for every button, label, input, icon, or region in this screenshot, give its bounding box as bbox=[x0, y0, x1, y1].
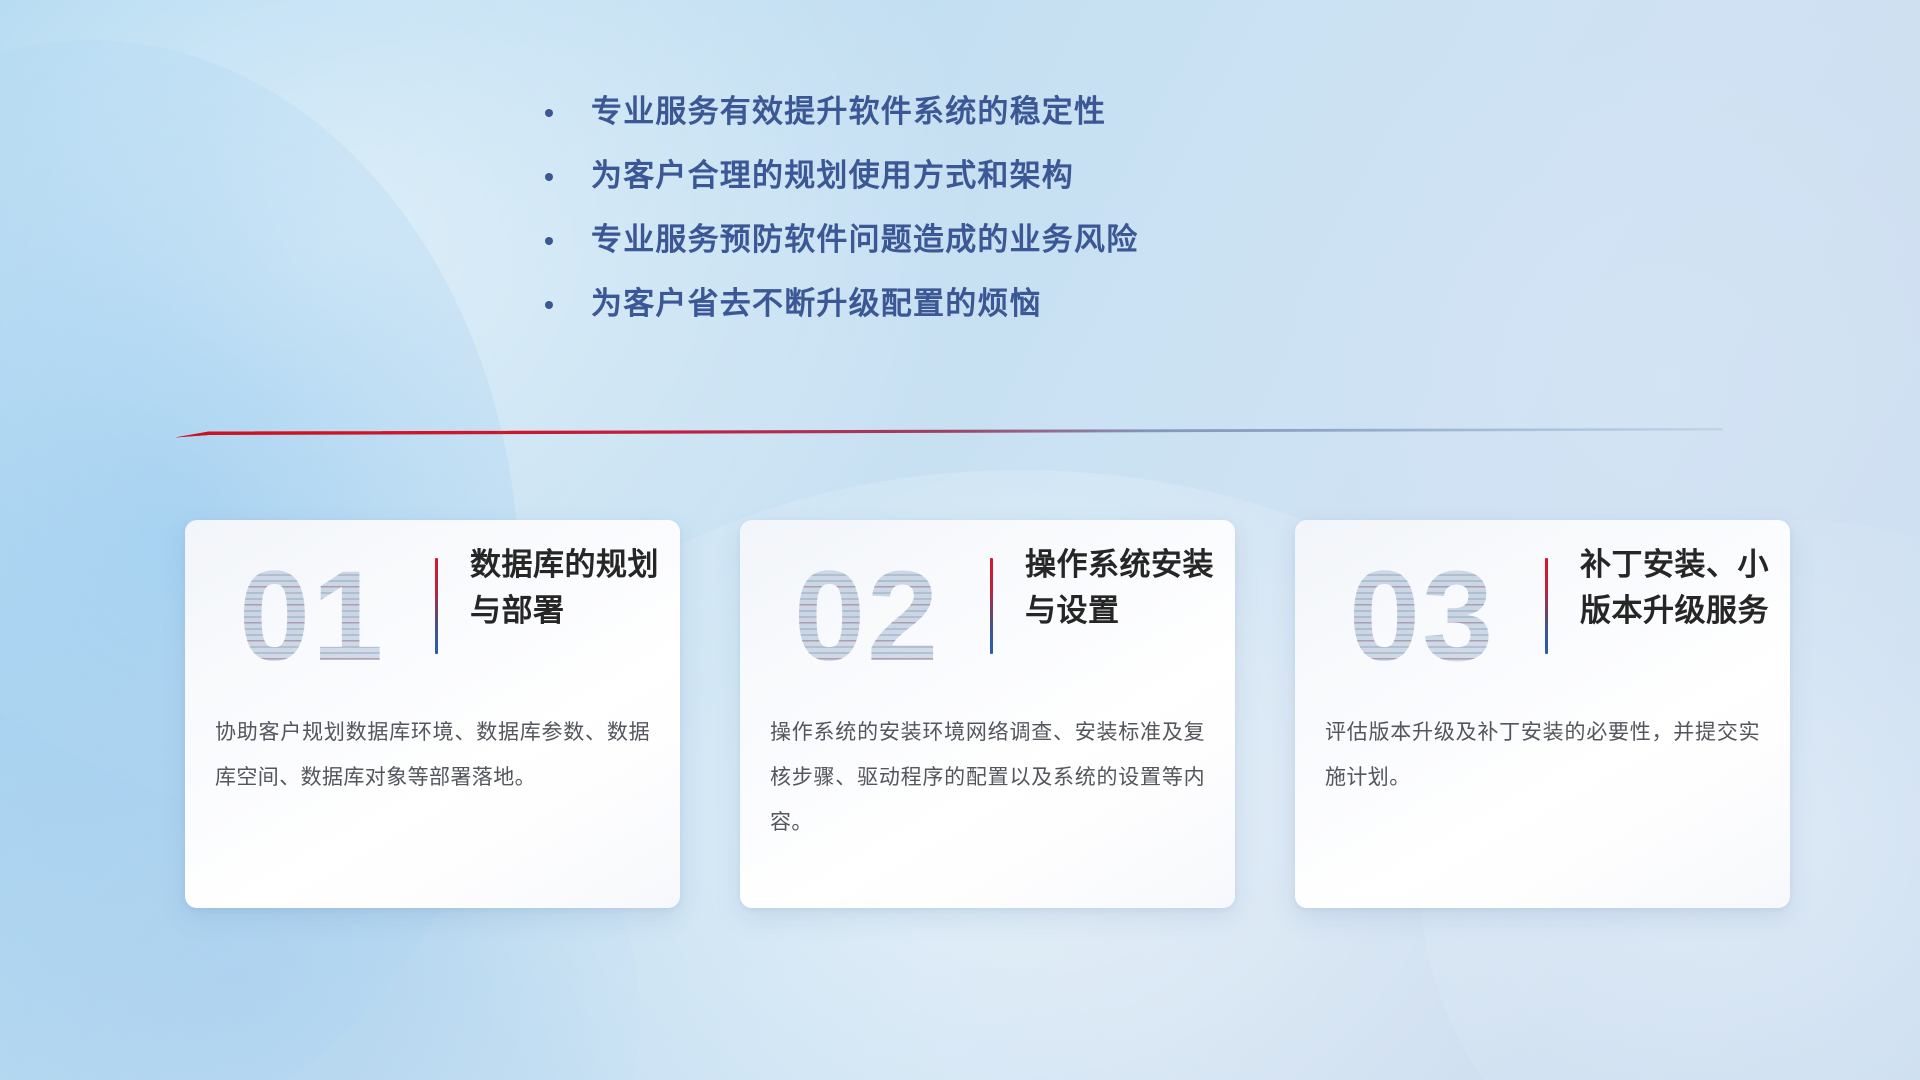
service-card-row: 01 01 数据库的规划与部署 协助客户规划数据库环境、数据库参数、数据库空间、… bbox=[0, 520, 1920, 940]
card-title: 数据库的规划与部署 bbox=[470, 542, 675, 634]
card-number-ghost: 01 bbox=[207, 532, 417, 702]
service-card[interactable]: 01 01 数据库的规划与部署 协助客户规划数据库环境、数据库参数、数据库空间、… bbox=[185, 520, 680, 908]
bullet-point-icon bbox=[545, 237, 553, 245]
list-item: 为客户合理的规划使用方式和架构 bbox=[545, 150, 1445, 202]
section-divider bbox=[175, 418, 1723, 444]
card-accent-bar bbox=[990, 558, 993, 654]
bullet-point-icon bbox=[545, 301, 553, 309]
card-accent-bar bbox=[435, 558, 438, 654]
bullet-label: 专业服务有效提升软件系统的稳定性 bbox=[591, 95, 1106, 129]
card-number-ghost: 02 bbox=[762, 532, 972, 702]
list-item: 专业服务预防软件问题造成的业务风险 bbox=[545, 214, 1445, 266]
bullet-label: 为客户合理的规划使用方式和架构 bbox=[591, 159, 1074, 193]
service-card[interactable]: 03 03 补丁安装、小版本升级服务 评估版本升级及补丁安装的必要性，并提交实施… bbox=[1295, 520, 1790, 908]
bullet-label: 专业服务预防软件问题造成的业务风险 bbox=[591, 223, 1138, 257]
list-item: 为客户省去不断升级配置的烦恼 bbox=[545, 278, 1445, 330]
bullet-point-icon bbox=[545, 109, 553, 117]
card-description: 协助客户规划数据库环境、数据库参数、数据库空间、数据库对象等部署落地。 bbox=[215, 710, 650, 800]
card-description: 评估版本升级及补丁安装的必要性，并提交实施计划。 bbox=[1325, 710, 1760, 800]
bullet-label: 为客户省去不断升级配置的烦恼 bbox=[591, 287, 1042, 321]
benefits-bullet-list: 专业服务有效提升软件系统的稳定性 为客户合理的规划使用方式和架构 专业服务预防软… bbox=[545, 86, 1445, 342]
list-item: 专业服务有效提升软件系统的稳定性 bbox=[545, 86, 1445, 138]
card-title: 补丁安装、小版本升级服务 bbox=[1580, 542, 1785, 634]
card-accent-bar bbox=[1545, 558, 1548, 654]
card-description: 操作系统的安装环境网络调查、安装标准及复核步骤、驱动程序的配置以及系统的设置等内… bbox=[770, 710, 1205, 845]
card-number-ghost: 03 bbox=[1317, 532, 1527, 702]
service-card[interactable]: 02 02 操作系统安装与设置 操作系统的安装环境网络调查、安装标准及复核步骤、… bbox=[740, 520, 1235, 908]
card-title: 操作系统安装与设置 bbox=[1025, 542, 1230, 634]
slide-canvas: 专业服务有效提升软件系统的稳定性 为客户合理的规划使用方式和架构 专业服务预防软… bbox=[0, 0, 1920, 1080]
bullet-point-icon bbox=[545, 173, 553, 181]
